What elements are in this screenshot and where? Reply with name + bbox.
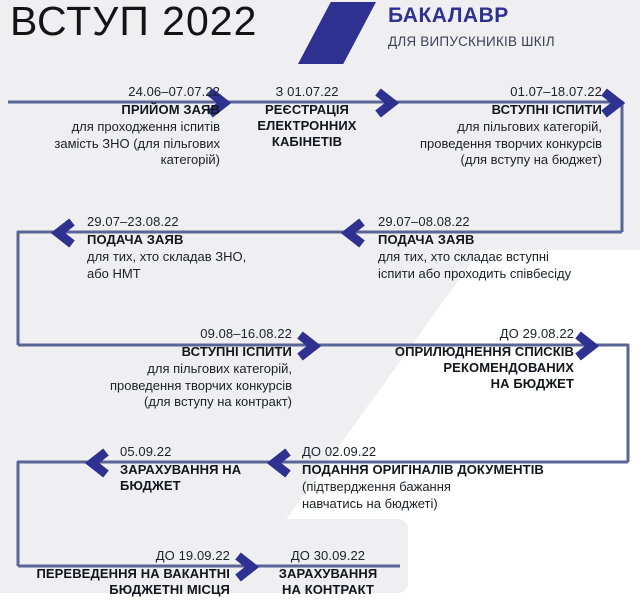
step-title: ВСТУПНІ ІСПИТИ [366,102,602,118]
header-subtitle: ДЛЯ ВИПУСКНИКІВ ШКІЛ [388,34,555,49]
step-date: ДО 19.09.22 [8,548,230,563]
step-date: 05.09.22 [120,444,270,459]
step-description: для тих, хто складає вступнііспити або п… [378,249,630,282]
step-date: 01.07–18.07.22 [366,84,602,99]
step-title: ПОДАННЯ ОРИГІНАЛІВ ДОКУМЕНТІВ [302,462,602,478]
step-title: ВСТУПНІ ІСПИТИ [20,344,292,360]
step-date: 24.06–07.07.22 [8,84,220,99]
step-title: ЗАРАХУВАННЯНА КОНТРАКТ [258,566,398,598]
step-title: ЗАРАХУВАННЯ НАБЮДЖЕТ [120,462,270,494]
step-title: ПОДАЧА ЗАЯВ [378,232,630,248]
step-date: З 01.07.22 [232,84,382,99]
step-title: ПЕРЕВЕДЕННЯ НА ВАКАНТНІБЮДЖЕТНІ МІСЦЯ [8,566,230,598]
step-date: ДО 02.09.22 [302,444,602,459]
step-description: (підтвердження бажаннянавчатись на бюдже… [302,479,602,512]
poster-header: ВСТУП 2022 БАКАЛАВР ДЛЯ ВИПУСКНИКІВ ШКІЛ [0,0,640,72]
timeline-step-8: 05.09.22 ЗАРАХУВАННЯ НАБЮДЖЕТ [120,444,270,494]
diagonal-slash-icon [298,2,376,64]
header-right-group: БАКАЛАВР ДЛЯ ВИПУСКНИКІВ ШКІЛ [388,4,555,49]
timeline-step-11: ДО 30.09.22 ЗАРАХУВАННЯНА КОНТРАКТ [258,548,398,598]
timeline-step-6: 09.08–16.08.22 ВСТУПНІ ІСПИТИ для пільго… [20,326,292,411]
infographic-poster: ВСТУП 2022 БАКАЛАВР ДЛЯ ВИПУСКНИКІВ ШКІЛ [0,0,640,611]
timeline-step-5: 29.07–08.08.22 ПОДАЧА ЗАЯВ для тих, хто … [378,214,630,282]
timeline-step-2: З 01.07.22 РЕЄСТРАЦІЯЕЛЕКТРОННИХКАБІНЕТІ… [232,84,382,150]
step-description: для пільгових категорій,проведення творч… [366,119,602,169]
page-title: ВСТУП 2022 [10,0,257,45]
timeline-step-3: 01.07–18.07.22 ВСТУПНІ ІСПИТИ для пільго… [366,84,602,169]
timeline-step-7: ДО 29.08.22 ОПРИЛЮДНЕННЯ СПИСКІВРЕКОМЕНД… [322,326,574,392]
timeline-step-1: 24.06–07.07.22 ПРИЙОМ ЗАЯВ для проходжен… [8,84,220,169]
step-title: РЕЄСТРАЦІЯЕЛЕКТРОННИХКАБІНЕТІВ [232,102,382,150]
step-date: ДО 30.09.22 [258,548,398,563]
step-title: ПОДАЧА ЗАЯВ [87,232,335,248]
timeline-step-9: ДО 02.09.22 ПОДАННЯ ОРИГІНАЛІВ ДОКУМЕНТІ… [302,444,602,512]
step-title: ПРИЙОМ ЗАЯВ [8,102,220,118]
degree-badge: БАКАЛАВР [388,4,555,28]
step-date: 29.07–08.08.22 [378,214,630,229]
step-title: ОПРИЛЮДНЕННЯ СПИСКІВРЕКОМЕНДОВАНИХНА БЮД… [322,344,574,392]
step-date: 29.07–23.08.22 [87,214,335,229]
step-description: для пільгових категорій,проведення творч… [20,361,292,411]
step-date: 09.08–16.08.22 [20,326,292,341]
step-date: ДО 29.08.22 [322,326,574,341]
step-description: для проходження іспитівзамість ЗНО (для … [8,119,220,169]
step-description: для тих, хто складав ЗНО,або НМТ [87,249,335,282]
timeline-step-10: ДО 19.09.22 ПЕРЕВЕДЕННЯ НА ВАКАНТНІБЮДЖЕ… [8,548,230,598]
timeline-step-4: 29.07–23.08.22 ПОДАЧА ЗАЯВ для тих, хто … [87,214,335,282]
